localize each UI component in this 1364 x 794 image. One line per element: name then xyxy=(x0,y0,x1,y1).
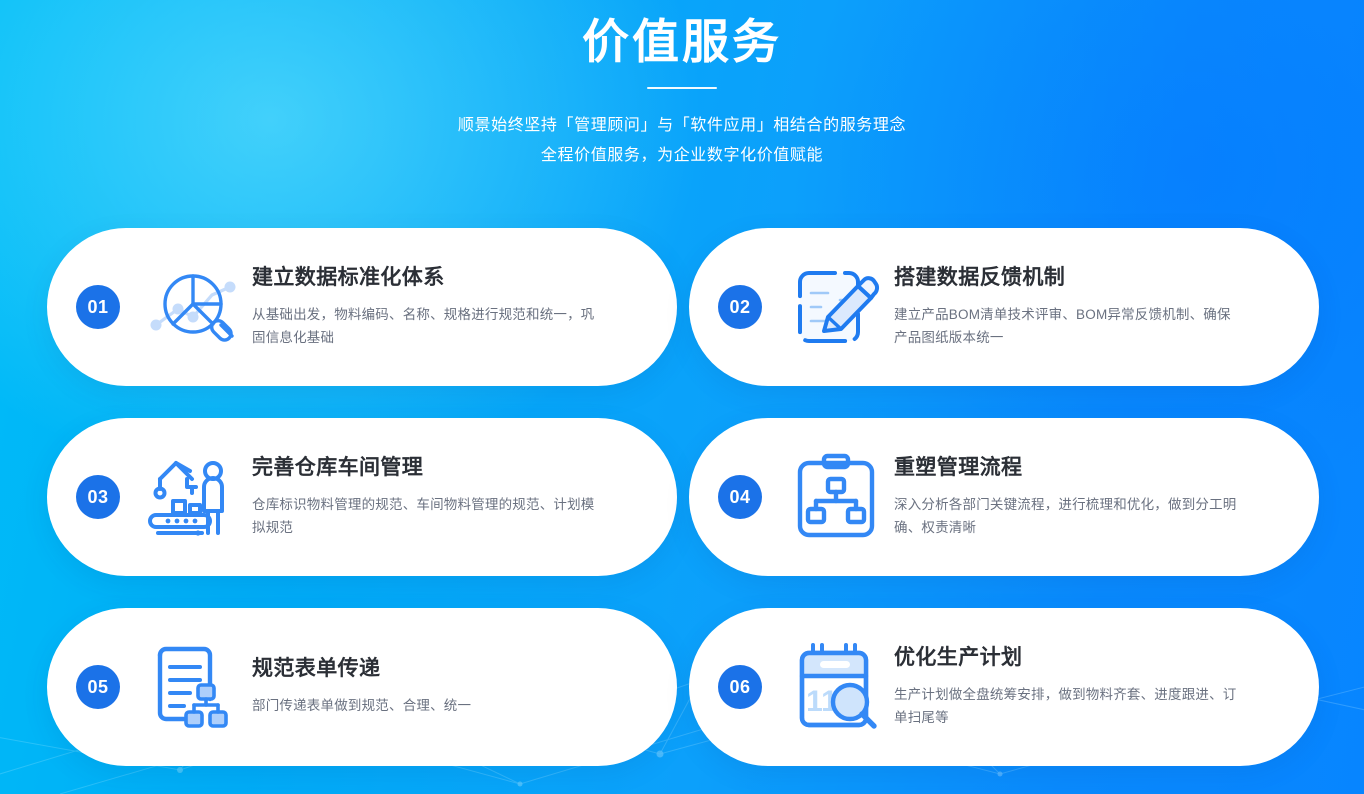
service-card-03[interactable]: 03 xyxy=(47,418,677,576)
card-title: 完善仓库车间管理 xyxy=(252,455,651,480)
card-description: 部门传递表单做到规范、合理、统一 xyxy=(252,694,604,717)
card-text: 完善仓库车间管理 仓库标识物料管理的规范、车间物料管理的规范、计划模拟规范 xyxy=(252,455,677,540)
card-description: 仓库标识物料管理的规范、车间物料管理的规范、计划模拟规范 xyxy=(252,493,604,539)
card-number-badge: 06 xyxy=(718,665,762,709)
card-number-badge: 04 xyxy=(718,475,762,519)
card-description: 从基础出发，物料编码、名称、规格进行规范和统一，巩固信息化基础 xyxy=(252,303,604,349)
card-number-badge: 03 xyxy=(76,475,120,519)
subtitle-line-2: 全程价值服务，为企业数字化价值赋能 xyxy=(232,141,1132,171)
card-description: 生产计划做全盘统筹安排，做到物料齐套、进度跟进、订单扫尾等 xyxy=(894,683,1244,729)
card-title: 重塑管理流程 xyxy=(894,455,1293,480)
card-description: 建立产品BOM清单技术评审、BOM异常反馈机制、确保产品图纸版本统一 xyxy=(894,303,1244,349)
card-text: 优化生产计划 生产计划做全盘统筹安排，做到物料齐套、进度跟进、订单扫尾等 xyxy=(894,645,1319,730)
page-header: 价值服务 顺景始终坚持「管理顾问」与「软件应用」相结合的服务理念 全程价值服务，… xyxy=(0,0,1364,171)
card-title: 搭建数据反馈机制 xyxy=(894,265,1293,290)
clipboard-org-chart-icon xyxy=(784,445,888,549)
card-text: 重塑管理流程 深入分析各部门关键流程，进行梳理和优化，做到分工明确、权责清晰 xyxy=(894,455,1319,540)
card-text: 搭建数据反馈机制 建立产品BOM清单技术评审、BOM异常反馈机制、确保产品图纸版… xyxy=(894,265,1319,350)
pie-chart-magnifier-icon xyxy=(142,255,246,359)
document-flow-icon xyxy=(142,635,246,739)
service-card-04[interactable]: 04 重塑管理流程 xyxy=(689,418,1319,576)
service-card-grid: 01 xyxy=(47,228,1319,766)
card-title: 优化生产计划 xyxy=(894,645,1293,670)
card-number-badge: 01 xyxy=(76,285,120,329)
card-title: 规范表单传递 xyxy=(252,656,651,681)
card-number-badge: 05 xyxy=(76,665,120,709)
service-card-02[interactable]: 02 搭建数据反馈机制 建立产品BOM清单技术评审 xyxy=(689,228,1319,386)
service-card-05[interactable]: 05 xyxy=(47,608,677,766)
card-title: 建立数据标准化体系 xyxy=(252,265,651,290)
calendar-magnifier-icon: 11 xyxy=(784,635,888,739)
card-number-badge: 02 xyxy=(718,285,762,329)
card-description: 深入分析各部门关键流程，进行梳理和优化，做到分工明确、权责清晰 xyxy=(894,493,1244,539)
title-divider xyxy=(647,87,717,89)
factory-conveyor-worker-icon xyxy=(142,445,246,549)
service-card-01[interactable]: 01 xyxy=(47,228,677,386)
card-text: 建立数据标准化体系 从基础出发，物料编码、名称、规格进行规范和统一，巩固信息化基… xyxy=(252,265,677,350)
page-root: 价值服务 顺景始终坚持「管理顾问」与「软件应用」相结合的服务理念 全程价值服务，… xyxy=(0,0,1364,794)
subtitle-line-1: 顺景始终坚持「管理顾问」与「软件应用」相结合的服务理念 xyxy=(232,111,1132,141)
document-pencil-icon xyxy=(784,255,888,359)
page-title: 价值服务 xyxy=(0,0,1364,69)
service-card-06[interactable]: 06 11 xyxy=(689,608,1319,766)
page-subtitle: 顺景始终坚持「管理顾问」与「软件应用」相结合的服务理念 全程价值服务，为企业数字… xyxy=(232,111,1132,170)
card-text: 规范表单传递 部门传递表单做到规范、合理、统一 xyxy=(252,656,677,717)
